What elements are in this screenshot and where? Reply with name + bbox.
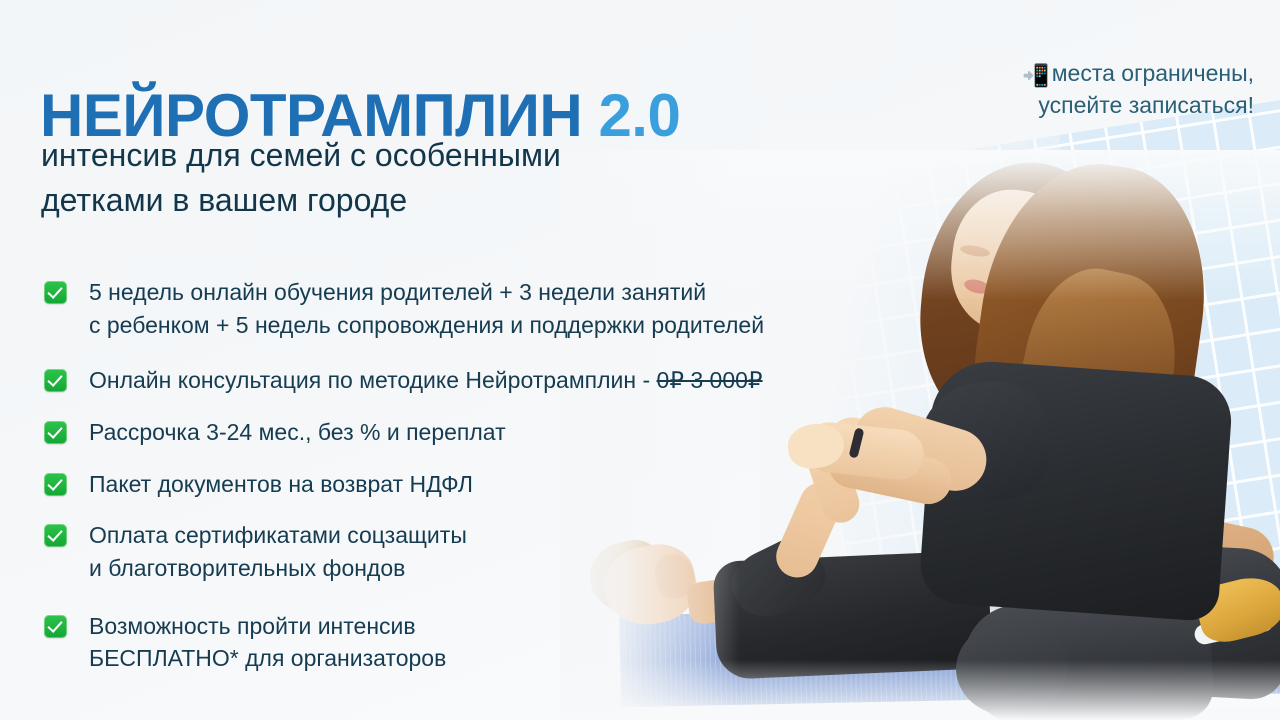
- list-item: Рассрочка 3-24 мес., без % и переплат: [44, 416, 874, 449]
- therapist-shoulder: [912, 374, 1057, 511]
- therapist-knee: [953, 616, 1071, 720]
- feature-text-lead: Онлайн консультация по методике Нейротра…: [89, 367, 657, 393]
- child-thigh: [1064, 513, 1220, 628]
- price-strikethrough: 0₽ 3 000₽: [657, 367, 763, 393]
- therapist-hip: [1098, 541, 1280, 701]
- mobile-phone-with-arrow-icon: 📲: [1022, 63, 1049, 88]
- check-mark-button-icon: [44, 615, 67, 638]
- check-mark-button-icon: [44, 369, 67, 392]
- therapist-neck: [1006, 304, 1087, 385]
- page-subtitle: интенсив для семей с особенными детками …: [41, 133, 561, 224]
- notice-line-2-text: успейте записаться!: [1022, 90, 1254, 121]
- check-mark-button-icon: [44, 281, 67, 304]
- feature-list: 5 недель онлайн обучения родителей + 3 н…: [44, 276, 874, 694]
- check-mark-button-icon: [44, 524, 67, 547]
- therapist-shoe: [1192, 570, 1280, 647]
- check-mark-button-icon: [44, 473, 67, 496]
- check-mark-button-icon: [44, 421, 67, 444]
- limited-seats-notice: 📲места ограничены, успейте записаться!: [1022, 58, 1254, 121]
- title-version-text: 2.0: [598, 82, 680, 149]
- child-shin: [1159, 511, 1279, 595]
- therapist-eye: [959, 243, 990, 258]
- feature-text: 5 недель онлайн обучения родителей + 3 н…: [89, 276, 764, 341]
- notice-line-1: 📲места ограничены,: [1022, 58, 1254, 90]
- child-shorts: [961, 550, 1109, 669]
- notice-line-1-text: места ограничены,: [1052, 60, 1254, 86]
- therapist-shoe-sole: [1193, 610, 1275, 646]
- feature-text: Рассрочка 3-24 мес., без % и переплат: [89, 416, 506, 449]
- therapist-hair-back: [911, 154, 1134, 442]
- list-item: Онлайн консультация по методике Нейротра…: [44, 364, 874, 397]
- feature-text: Пакет документов на возврат НДФЛ: [89, 468, 473, 501]
- therapist-black-shirt: [918, 358, 1234, 622]
- list-item: 5 недель онлайн обучения родителей + 3 н…: [44, 276, 874, 341]
- feature-text: Оплата сертификатами соцзащиты и благотв…: [89, 519, 467, 584]
- list-item: Пакет документов на возврат НДФЛ: [44, 468, 874, 501]
- promo-slide: НЕЙРОТРАМПЛИН 2.0 интенсив для семей с о…: [0, 0, 1280, 720]
- feature-text: Онлайн консультация по методике Нейротра…: [89, 364, 763, 397]
- list-item: Оплата сертификатами соцзащиты и благотв…: [44, 519, 874, 584]
- therapist-hair-front: [958, 150, 1222, 507]
- feature-text: Возможность пройти интенсив БЕСПЛАТНО* д…: [89, 610, 446, 675]
- therapist-lips: [963, 277, 991, 296]
- list-item: Возможность пройти интенсив БЕСПЛАТНО* д…: [44, 610, 874, 675]
- therapist-leg: [962, 598, 1214, 720]
- therapist-head: [944, 183, 1082, 339]
- therapist-hair-strand: [998, 257, 1193, 513]
